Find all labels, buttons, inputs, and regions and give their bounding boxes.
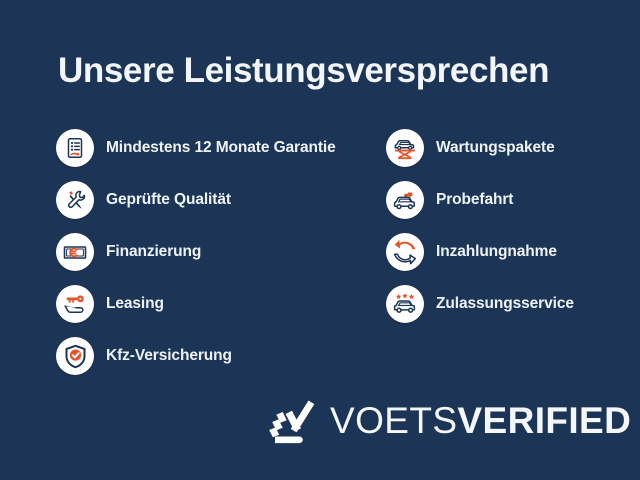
- feature-label: Kfz-Versicherung: [106, 347, 232, 365]
- feature-item-probefahrt: Probefahrt: [386, 174, 636, 226]
- feature-label: Wartungspakete: [436, 139, 555, 157]
- feature-label: Mindestens 12 Monate Garantie: [106, 139, 336, 157]
- promise-banner: Unsere Leistungsversprechen: [0, 0, 640, 480]
- feature-label: Finanzierung: [106, 243, 201, 261]
- car-with-stars-icon: [386, 285, 424, 323]
- logo-wordmark: VOETSVERIFIED: [330, 401, 631, 441]
- wrench-screwdriver-icon: [56, 181, 94, 219]
- feature-item-leasing: Leasing: [56, 278, 386, 330]
- feature-label: Geprüfte Qualität: [106, 191, 231, 209]
- car-with-hearts-icon: [386, 181, 424, 219]
- feature-label: Zulassungsservice: [436, 295, 574, 313]
- euro-banknote-icon: [56, 233, 94, 271]
- logo-word-voets: VOETS: [330, 400, 457, 441]
- feature-grid: Mindestens 12 Monate Garantie Geprüfte Q…: [0, 122, 640, 382]
- exchange-arrows-icon: [386, 233, 424, 271]
- key-in-hand-icon: [56, 285, 94, 323]
- feature-item-zulassungsservice: Zulassungsservice: [386, 278, 636, 330]
- feature-item-garantie: Mindestens 12 Monate Garantie: [56, 122, 386, 174]
- brand-logo: VOETSVERIFIED: [268, 396, 631, 446]
- feature-item-qualitaet: Geprüfte Qualität: [56, 174, 386, 226]
- feature-item-inzahlungnahme: Inzahlungnahme: [386, 226, 636, 278]
- feature-item-wartungspakete: Wartungspakete: [386, 122, 636, 174]
- page-title: Unsere Leistungsversprechen: [58, 50, 598, 92]
- shield-check-icon: [56, 337, 94, 375]
- feature-label: Inzahlungnahme: [436, 243, 557, 261]
- feature-label: Leasing: [106, 295, 164, 313]
- feature-column-left: Mindestens 12 Monate Garantie Geprüfte Q…: [56, 122, 386, 382]
- logo-word-verified: VERIFIED: [457, 400, 631, 441]
- voets-v-checkmark-icon: [268, 396, 316, 446]
- feature-column-right: Wartungspakete Probefahrt: [386, 122, 636, 330]
- car-on-lift-icon: [386, 129, 424, 167]
- feature-item-finanzierung: Finanzierung: [56, 226, 386, 278]
- feature-label: Probefahrt: [436, 191, 513, 209]
- feature-item-versicherung: Kfz-Versicherung: [56, 330, 386, 382]
- document-checklist-icon: [56, 129, 94, 167]
